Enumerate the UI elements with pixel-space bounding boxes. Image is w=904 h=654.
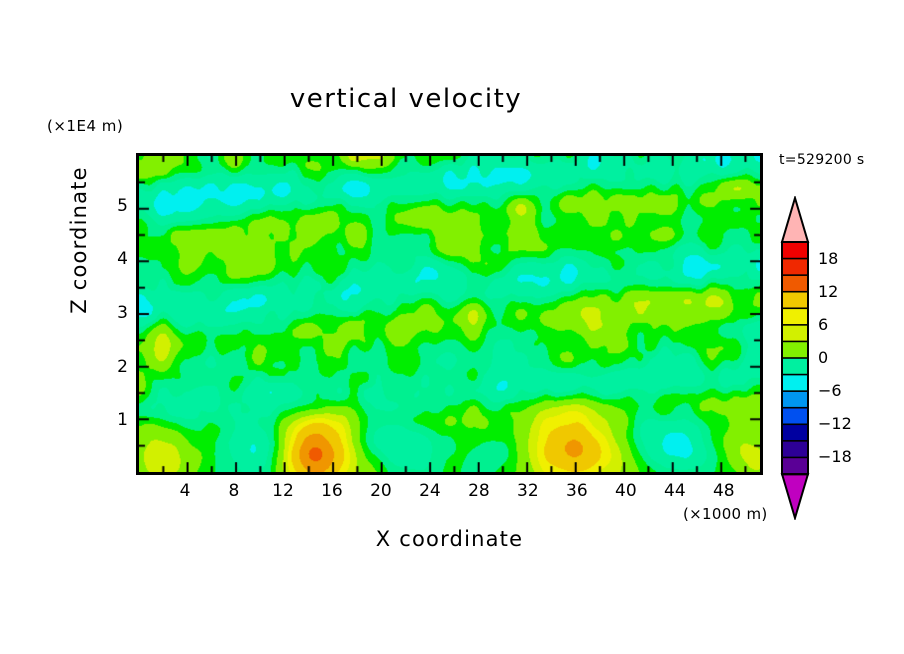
colorbar-tick-label: −12	[818, 414, 852, 433]
colorbar	[778, 196, 812, 520]
x-tick-label: 44	[655, 481, 695, 501]
x-axis-title: X coordinate	[136, 527, 763, 551]
y-tick-label: 1	[88, 410, 128, 430]
y-tick-label: 2	[88, 357, 128, 377]
x-tick-label: 20	[361, 481, 401, 501]
y-tick-label: 4	[88, 249, 128, 269]
x-tick-label: 36	[557, 481, 597, 501]
y-tick-label: 5	[88, 196, 128, 216]
y-axis-title: Z coordinate	[67, 160, 91, 320]
x-tick-label: 32	[508, 481, 548, 501]
x-tick-label: 48	[704, 481, 744, 501]
colorbar-tick-label: 0	[818, 348, 828, 367]
plot-area	[136, 153, 763, 475]
colorbar-tick-label: −18	[818, 447, 852, 466]
contour-plot-figure: vertical velocity (×1E4 m) t=529200 s 48…	[0, 0, 904, 654]
colorbar-tick-label: 18	[818, 249, 838, 268]
plot-title-text: vertical velocity	[290, 84, 522, 114]
colorbar-tick-label: 12	[818, 282, 838, 301]
x-tick-label: 28	[459, 481, 499, 501]
timestamp-annotation: t=529200 s	[779, 152, 864, 168]
x-tick-label: 24	[410, 481, 450, 501]
x-axis-unit-label: (×1000 m)	[683, 505, 768, 523]
contour-field-canvas	[139, 156, 760, 472]
x-tick-label: 8	[214, 481, 254, 501]
plot-title: vertical velocity	[0, 84, 904, 114]
x-tick-label: 16	[312, 481, 352, 501]
colorbar-tick-label: 6	[818, 315, 828, 334]
y-tick-label: 3	[88, 303, 128, 323]
y-axis-unit-label: (×1E4 m)	[47, 117, 123, 135]
x-tick-label: 12	[263, 481, 303, 501]
colorbar-tick-label: −6	[818, 381, 842, 400]
x-tick-label: 4	[165, 481, 205, 501]
x-tick-label: 40	[606, 481, 646, 501]
